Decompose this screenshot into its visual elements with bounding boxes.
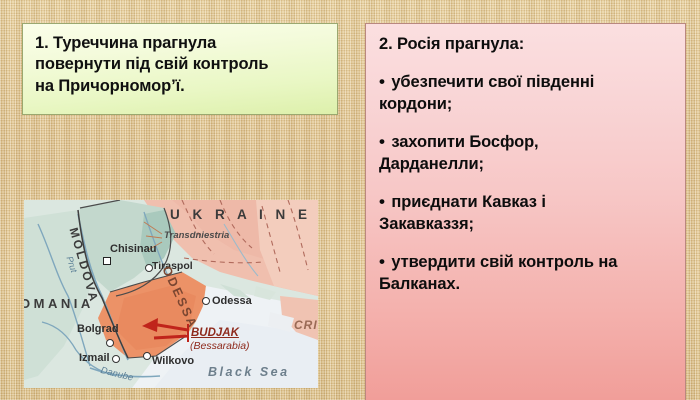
map-marker-wilkovo (143, 352, 151, 360)
bullet-icon: • (379, 132, 387, 151)
map-marker-bolgrad (106, 339, 114, 347)
russia-aims-box: 2. Росія прагнула: • убезпечити свої пів… (365, 23, 686, 400)
map-marker-tiraspol (145, 264, 153, 272)
bullet-icon: • (379, 252, 387, 271)
russia-bullet-2-line-2: Дарданелли; (379, 154, 675, 175)
map-graphic (24, 200, 318, 388)
russia-bullet-2-text: захопити Босфор, (391, 133, 538, 151)
map-marker-odessa (202, 297, 210, 305)
russia-bullet-1-text: убезпечити свої південні (391, 73, 594, 91)
russia-heading: 2. Росія прагнула: (379, 34, 675, 55)
spacer (379, 175, 675, 192)
russia-bullet-3-text: приєднати Кавказ і (391, 193, 546, 211)
russia-bullet-1-line-2: кордони; (379, 94, 675, 115)
turkey-line-3: на Причорномор’ї. (35, 76, 327, 97)
russia-bullet-4-text: утвердити свій контроль на (391, 253, 617, 271)
spacer (379, 55, 675, 72)
spacer (379, 235, 675, 252)
russia-bullet-4-line-1: • утвердити свій контроль на (379, 252, 675, 273)
map-marker-chisinau (103, 257, 111, 265)
bullet-icon: • (379, 192, 387, 211)
russia-bullet-4-line-2: Балканах. (379, 274, 675, 295)
budjak-map-image: U K R A I N E Transdniestria MOLDOVA OMA… (24, 200, 318, 388)
russia-bullet-3-line-1: • приєднати Кавказ і (379, 192, 675, 213)
map-marker-izmail (112, 355, 120, 363)
russia-bullet-3-line-2: Закавказзя; (379, 214, 675, 235)
russia-bullet-1-line-1: • убезпечити свої південні (379, 72, 675, 93)
turkey-line-1: 1. Туреччина прагнула (35, 33, 327, 54)
spacer (379, 115, 675, 132)
bullet-icon: • (379, 72, 387, 91)
turkey-aims-box: 1. Туреччина прагнула повернути під свій… (22, 23, 338, 115)
turkey-line-2: повернути під свій контроль (35, 54, 327, 75)
slide-canvas: 1. Туреччина прагнула повернути під свій… (0, 0, 700, 400)
russia-bullet-2-line-1: • захопити Босфор, (379, 132, 675, 153)
